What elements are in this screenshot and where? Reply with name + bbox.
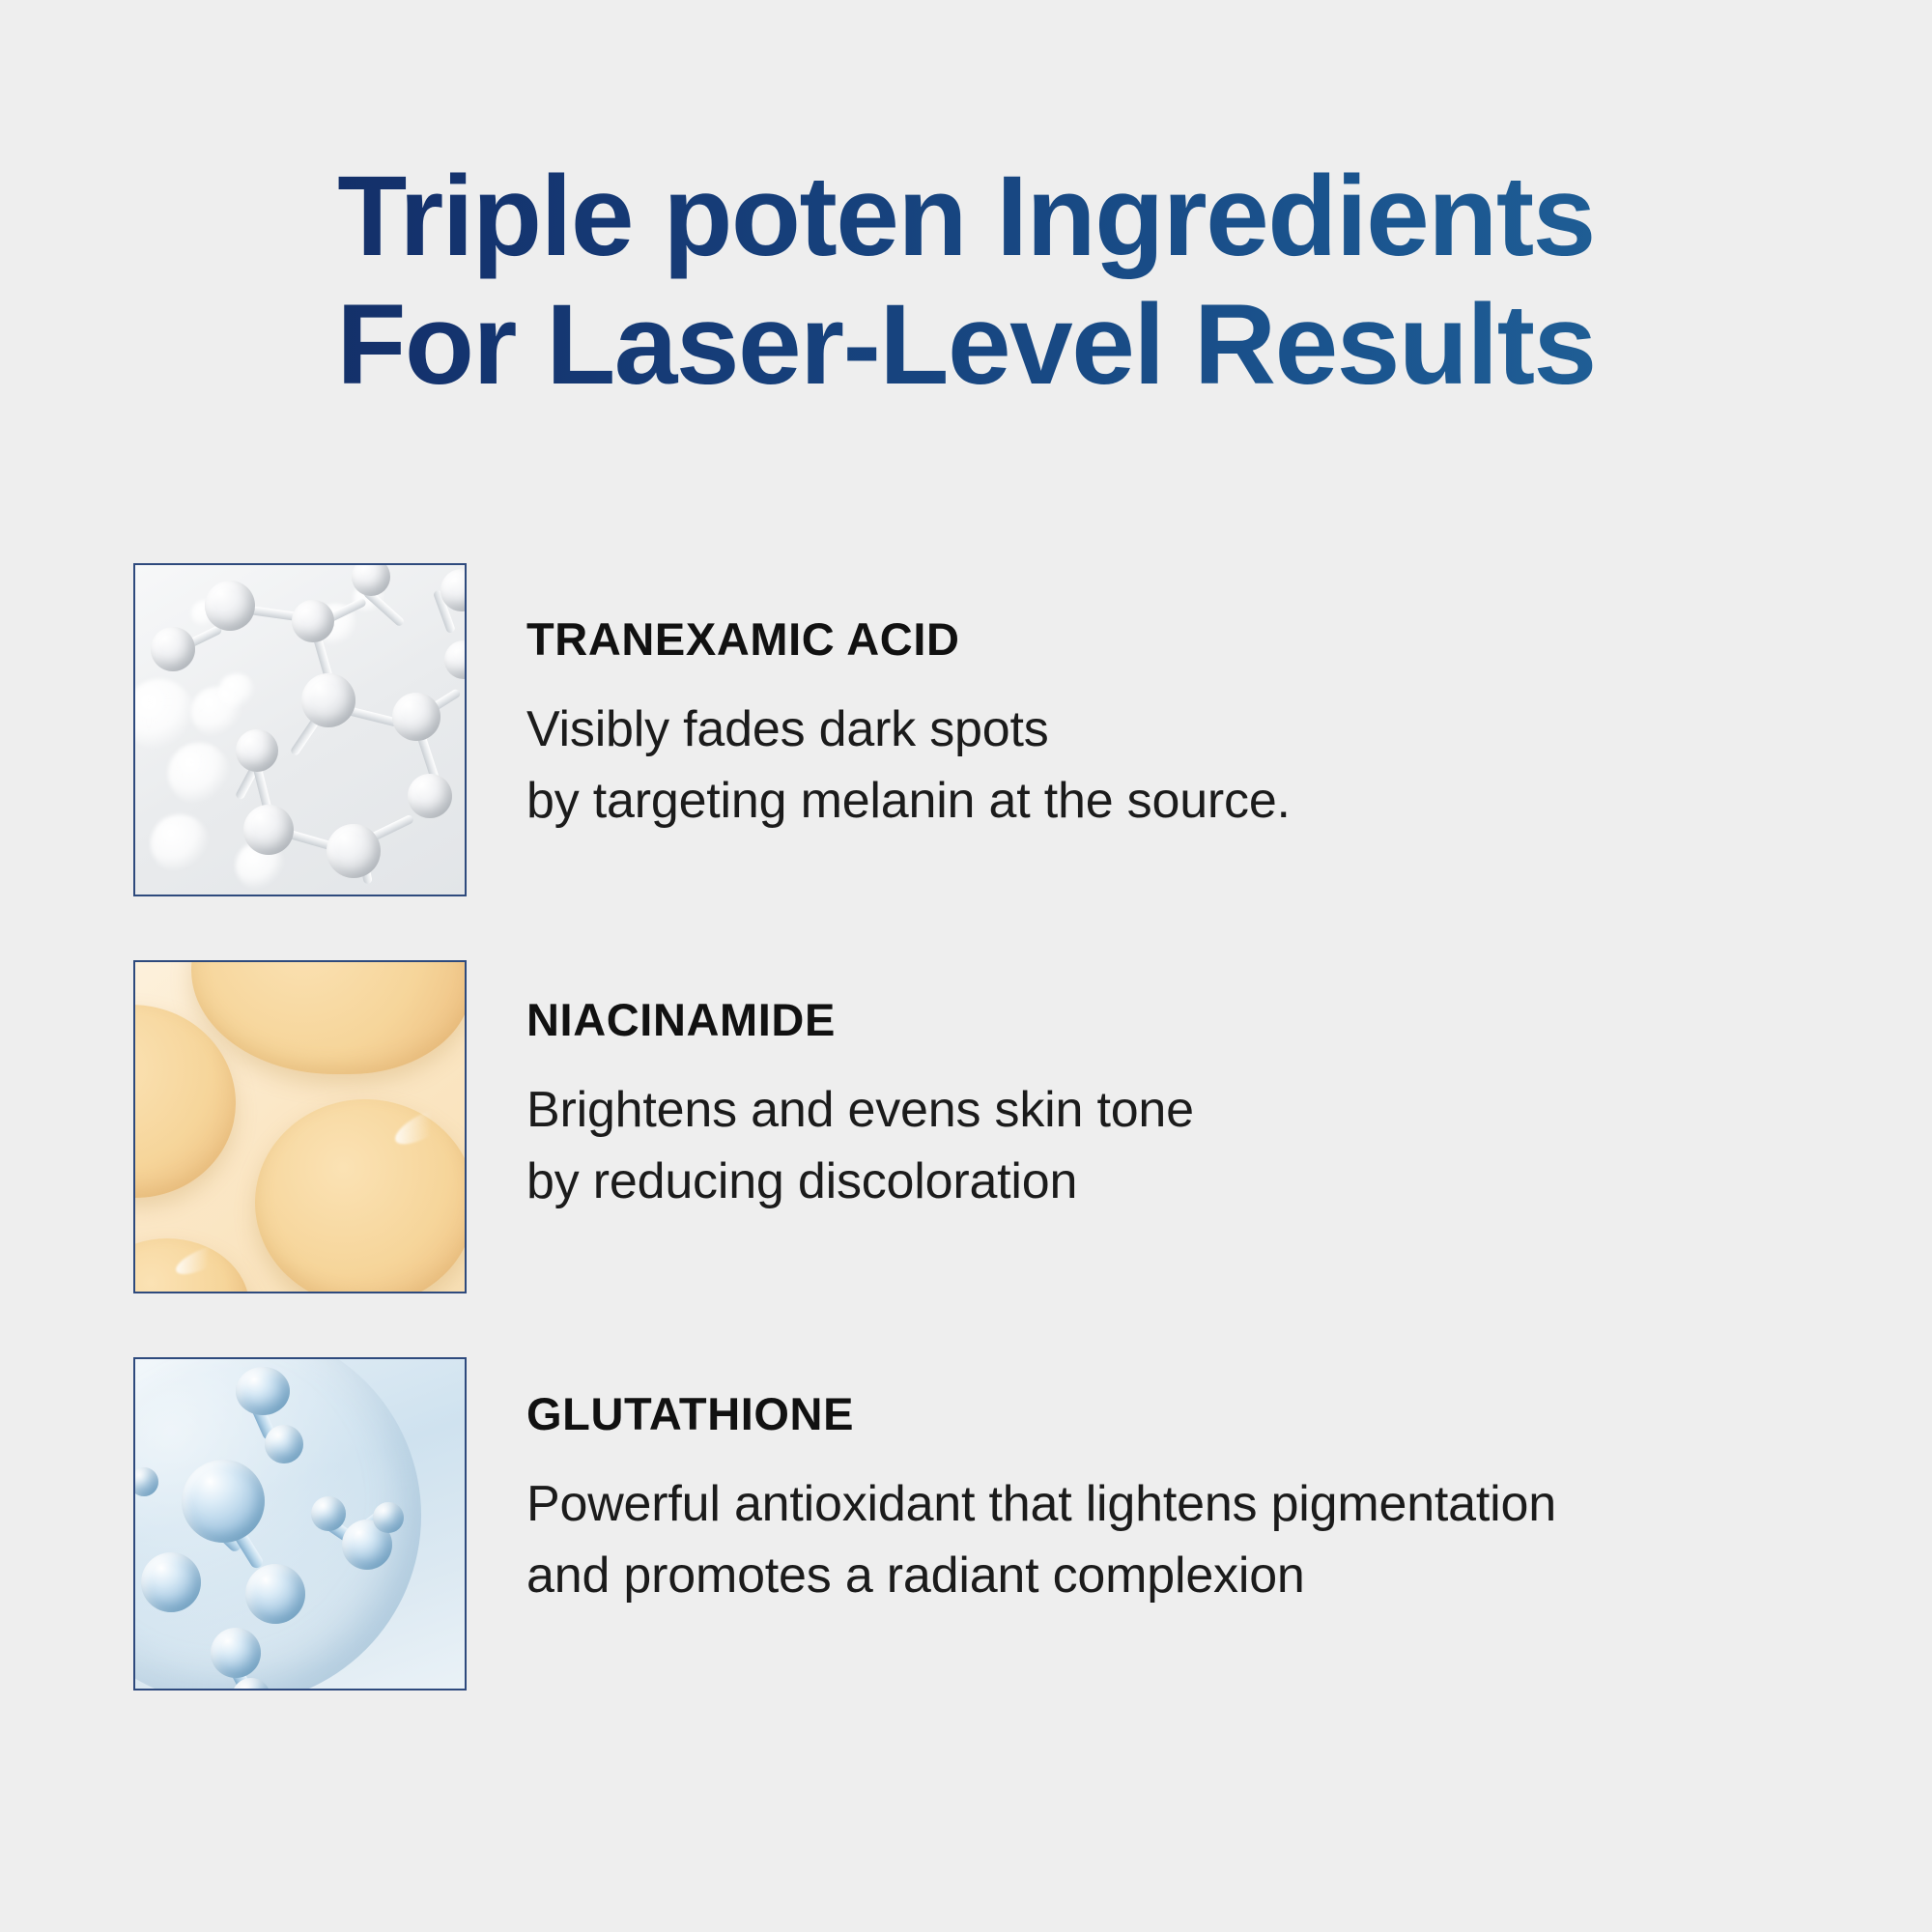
molecule-white-lattice-icon xyxy=(135,565,465,895)
molecule-blue-waterdrop-icon xyxy=(135,1359,465,1689)
ingredient-name: NIACINAMIDE xyxy=(526,997,1821,1042)
ingredient-copy-glutathione: GLUTATHIONE Powerful antioxidant that li… xyxy=(526,1391,1821,1612)
ingredient-copy-niacinamide: NIACINAMIDE Brightens and evens skin ton… xyxy=(526,997,1821,1218)
ingredient-thumbnail-glutathione xyxy=(133,1357,467,1690)
page-title: Triple poten Ingredients For Laser-Level… xyxy=(0,153,1932,411)
ingredient-list: TRANEXAMIC ACID Visibly fades dark spots… xyxy=(0,563,1932,1754)
ingredient-description-line-1: Brightens and evens skin tone xyxy=(526,1075,1821,1147)
ingredients-infographic: Triple poten Ingredients For Laser-Level… xyxy=(0,0,1932,1932)
ingredient-row-niacinamide: NIACINAMIDE Brightens and evens skin ton… xyxy=(0,960,1932,1293)
ingredient-name: GLUTATHIONE xyxy=(526,1391,1821,1436)
ingredient-description-line-2: by targeting melanin at the source. xyxy=(526,766,1821,838)
ingredient-description: Powerful antioxidant that lightens pigme… xyxy=(526,1469,1821,1612)
ingredient-thumbnail-niacinamide xyxy=(133,960,467,1293)
ingredient-copy-tranexamic-acid: TRANEXAMIC ACID Visibly fades dark spots… xyxy=(526,616,1821,838)
page-title-line-2: For Laser-Level Results xyxy=(0,281,1932,410)
ingredient-thumbnail-tranexamic-acid xyxy=(133,563,467,896)
ingredient-description-line-1: Powerful antioxidant that lightens pigme… xyxy=(526,1469,1821,1541)
ingredient-description: Brightens and evens skin tone by reducin… xyxy=(526,1075,1821,1218)
page-title-line-1: Triple poten Ingredients xyxy=(337,153,1594,280)
ingredient-description: Visibly fades dark spots by targeting me… xyxy=(526,695,1821,838)
serum-gold-droplets-icon xyxy=(135,962,465,1292)
ingredient-name: TRANEXAMIC ACID xyxy=(526,616,1821,662)
ingredient-description-line-2: and promotes a radiant complexion xyxy=(526,1541,1821,1612)
ingredient-row-tranexamic-acid: TRANEXAMIC ACID Visibly fades dark spots… xyxy=(0,563,1932,896)
ingredient-description-line-1: Visibly fades dark spots xyxy=(526,695,1821,766)
ingredient-row-glutathione: GLUTATHIONE Powerful antioxidant that li… xyxy=(0,1357,1932,1690)
ingredient-description-line-2: by reducing discoloration xyxy=(526,1147,1821,1218)
